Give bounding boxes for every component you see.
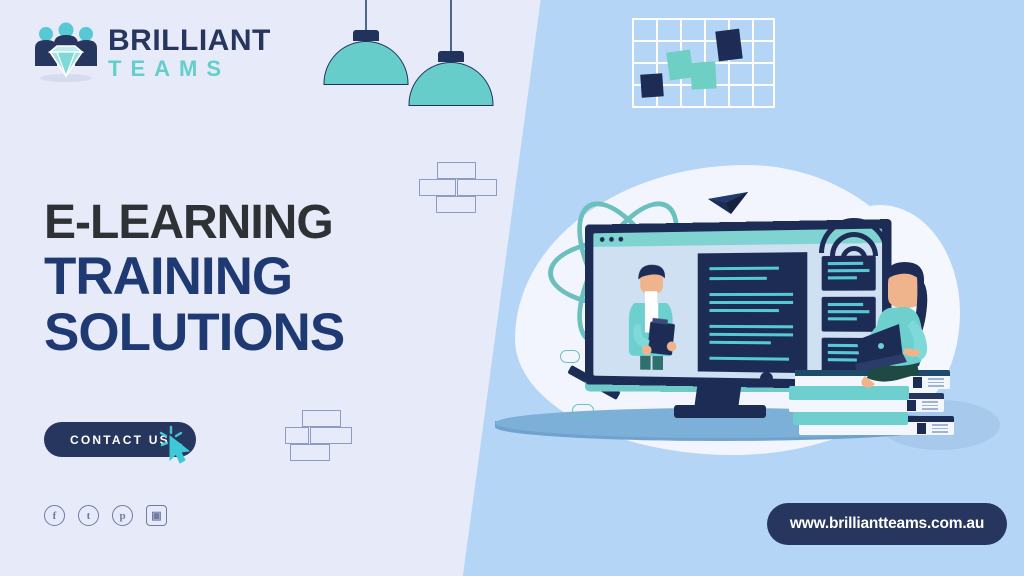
woman-with-laptop-character (855, 262, 960, 387)
click-cursor-icon (158, 424, 194, 466)
headline-line-1: E-LEARNING (44, 198, 344, 249)
pendant-lamp-2 (409, 0, 493, 125)
social-links: f t p ▣ (44, 505, 167, 526)
headline-line-3: SOLUTIONS (44, 305, 344, 361)
sticky-note-navy-2 (715, 29, 742, 62)
sticky-notes-grid (632, 18, 775, 108)
hero-banner: BRILLIANT TEAMS E-LEARNING TRAINING SOLU… (0, 0, 1024, 576)
facebook-icon[interactable]: f (44, 505, 65, 526)
pendant-lamp-1 (324, 0, 408, 95)
website-url-bar[interactable]: www.brilliantteams.com.au (767, 503, 1007, 545)
sticky-note-navy-1 (640, 73, 664, 97)
lesson-document (698, 252, 808, 373)
wifi-icon (822, 218, 886, 266)
paperclip-icon-1 (560, 350, 580, 363)
twitter-icon[interactable]: t (78, 505, 99, 526)
brand-name-primary: BRILLIANT (108, 26, 271, 56)
paperclip-icon-2 (572, 404, 594, 417)
sticky-note-teal-2 (690, 61, 716, 89)
team-diamond-logo-icon (30, 22, 102, 84)
brand-name-secondary: TEAMS (108, 58, 271, 80)
brand-logo[interactable]: BRILLIANT TEAMS (30, 22, 271, 84)
instagram-icon[interactable]: ▣ (146, 505, 167, 526)
brick-outline-cluster-top (419, 162, 495, 210)
website-url-text: www.brilliantteams.com.au (790, 515, 984, 533)
book-accent-teal-2 (793, 412, 908, 425)
paper-plane-icon (706, 190, 750, 218)
headline-line-2: TRAINING (44, 249, 344, 305)
instructor-character (621, 263, 680, 372)
brick-outline-cluster-bottom (285, 410, 361, 458)
pinterest-icon[interactable]: p (112, 505, 133, 526)
headline-block: E-LEARNING TRAINING SOLUTIONS (44, 198, 344, 361)
